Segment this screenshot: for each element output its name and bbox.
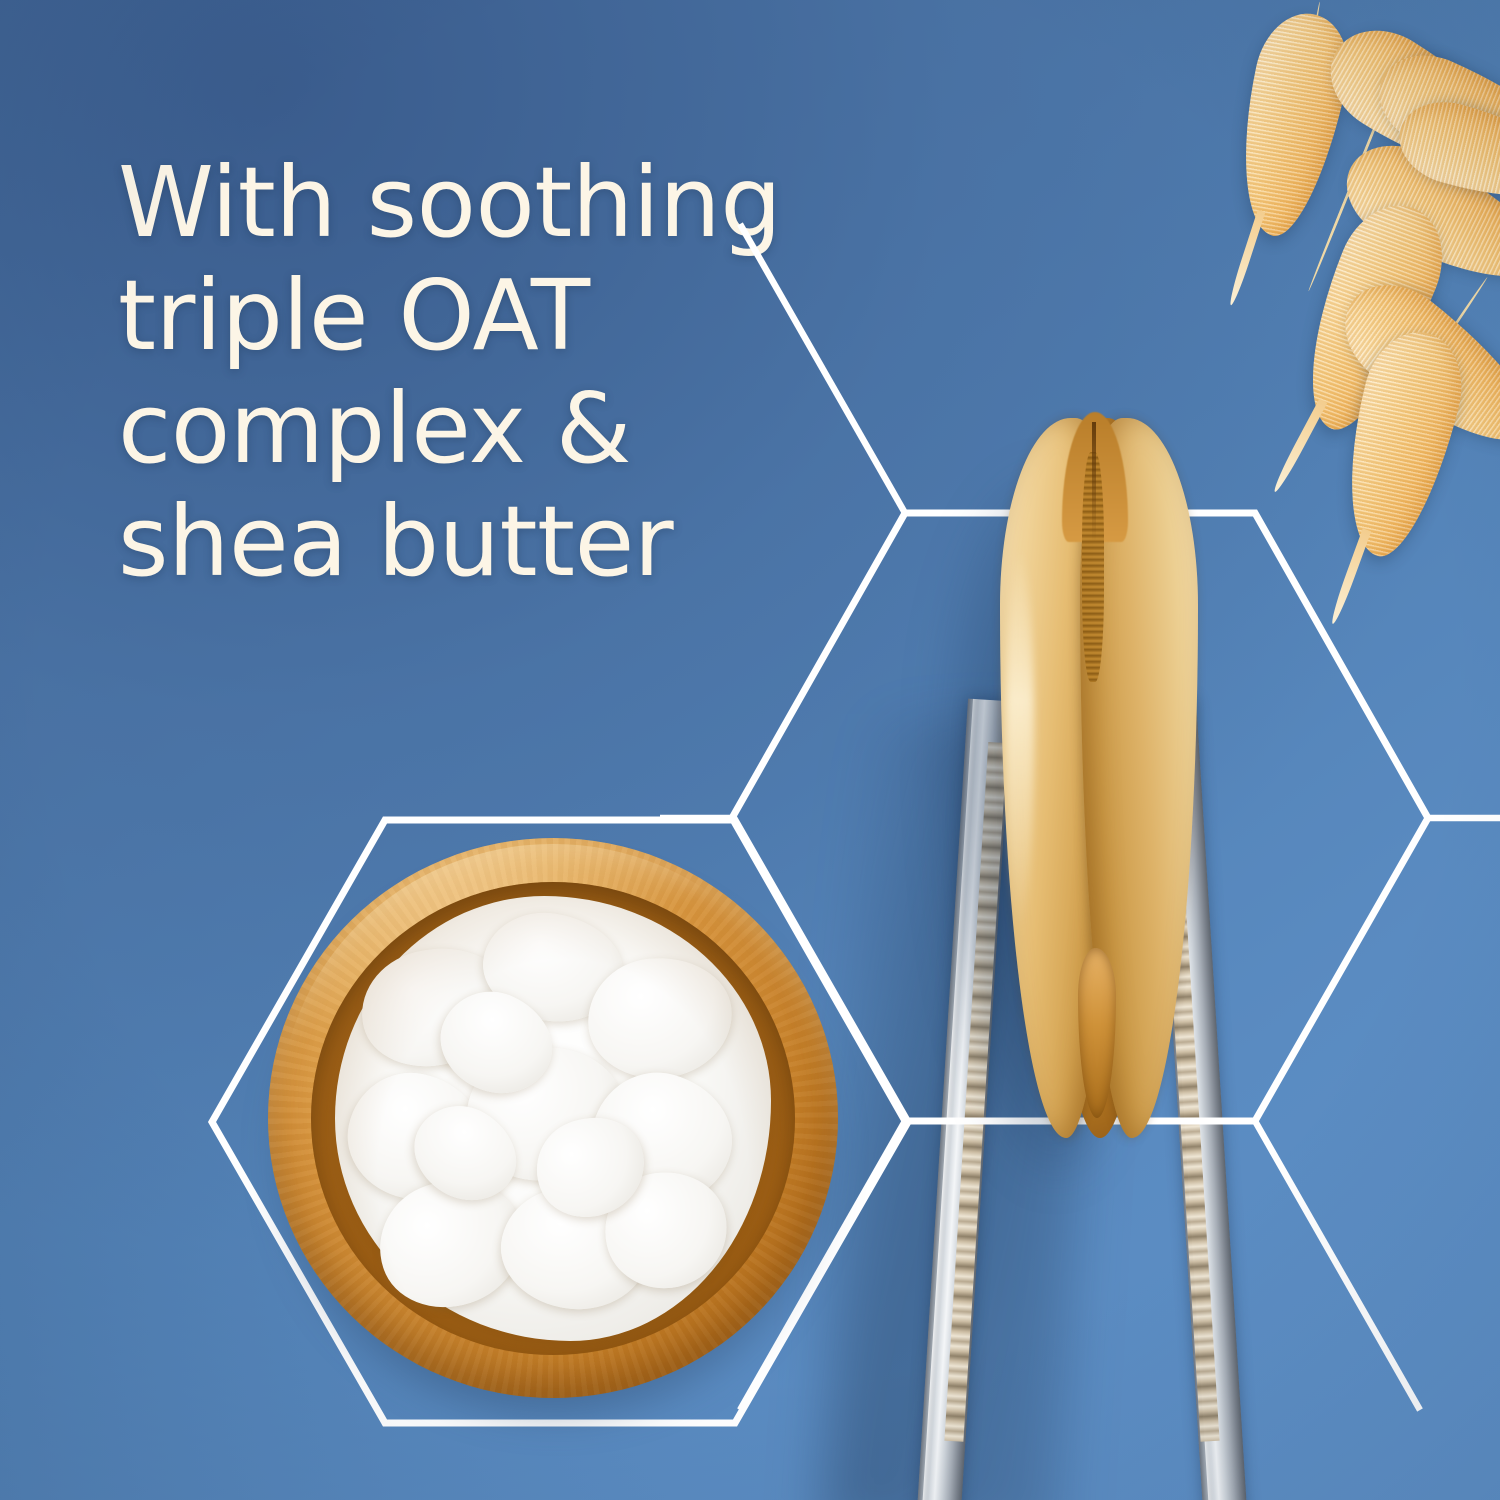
- vignette-overlay: [0, 0, 1500, 1500]
- ingredient-banner: With soothing triple OAT complex & shea …: [0, 0, 1500, 1500]
